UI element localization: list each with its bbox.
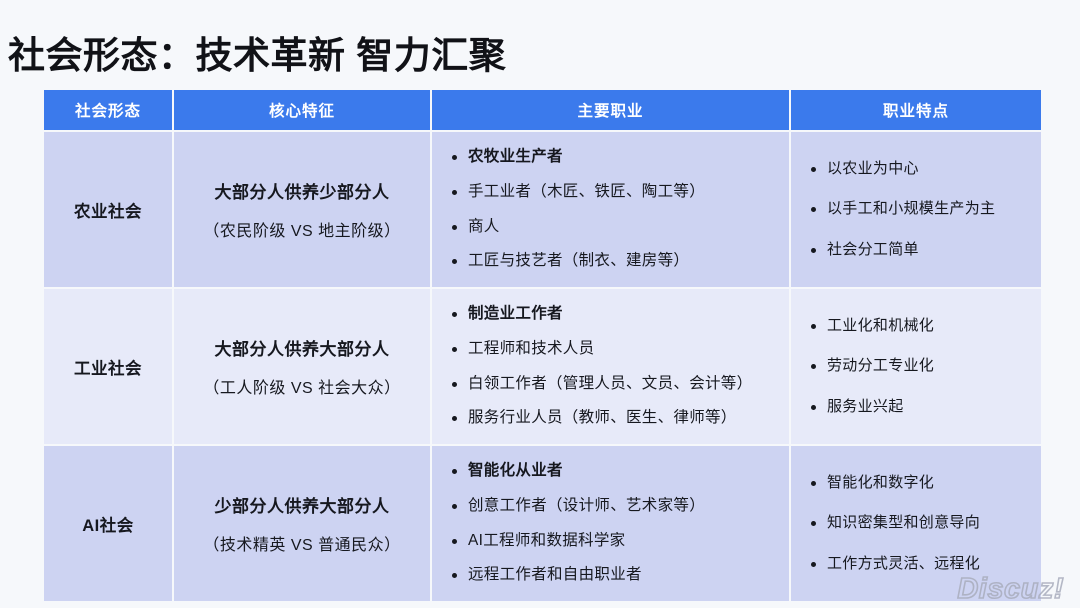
list-item: 劳动分工专业化	[807, 356, 1025, 376]
cell-main-occupations: 制造业工作者 工程师和技术人员 白领工作者（管理人员、文员、会计等） 服务行业人…	[432, 289, 789, 444]
cell-core-trait: 少部分人供养大部分人 （技术精英 VS 普通民众）	[174, 446, 430, 601]
feature-list: 智能化和数字化 知识密集型和创意导向 工作方式灵活、远程化	[807, 473, 1025, 574]
feature-list-block: 智能化和数字化 知识密集型和创意导向 工作方式灵活、远程化	[791, 459, 1041, 588]
table-row: 工业社会 大部分人供养大部分人 （工人阶级 VS 社会大众） 制造业工作者 工程…	[44, 289, 1041, 444]
list-item: 服务业兴起	[807, 397, 1025, 417]
list-item: 智能化从业者	[448, 461, 773, 482]
cell-main-occupations: 智能化从业者 创意工作者（设计师、艺术家等） AI工程师和数据科学家 远程工作者…	[432, 446, 789, 601]
table-row: AI社会 少部分人供养大部分人 （技术精英 VS 普通民众） 智能化从业者 创意…	[44, 446, 1041, 601]
core-trait-main: 少部分人供养大部分人	[190, 492, 414, 517]
list-item: 以农业为中心	[807, 159, 1025, 179]
cell-society-name: 农业社会	[44, 132, 172, 287]
society-name-label: AI社会	[44, 498, 172, 550]
cell-society-name: AI社会	[44, 446, 172, 601]
core-trait-sub: （技术精英 VS 普通民众）	[190, 531, 414, 555]
discuz-watermark: Discuz!	[957, 573, 1064, 606]
core-trait-block: 大部分人供养少部分人 （农民阶级 VS 地主阶级）	[174, 164, 430, 255]
list-item: 知识密集型和创意导向	[807, 513, 1025, 533]
list-item: 智能化和数字化	[807, 473, 1025, 493]
list-item: 远程工作者和自由职业者	[448, 565, 773, 586]
list-item: 社会分工简单	[807, 240, 1025, 260]
cell-core-trait: 大部分人供养大部分人 （工人阶级 VS 社会大众）	[174, 289, 430, 444]
column-header-occupation-features: 职业特点	[791, 90, 1041, 130]
feature-list-block: 以农业为中心 以手工和小规模生产为主 社会分工简单	[791, 145, 1041, 274]
list-item: 商人	[448, 217, 773, 238]
core-trait-main: 大部分人供养少部分人	[190, 178, 414, 203]
feature-list: 工业化和机械化 劳动分工专业化 服务业兴起	[807, 316, 1025, 417]
table-body: 农业社会 大部分人供养少部分人 （农民阶级 VS 地主阶级） 农牧业生产者 手工…	[44, 132, 1041, 601]
list-item: 服务行业人员（教师、医生、律师等）	[448, 408, 773, 429]
occupation-list: 智能化从业者 创意工作者（设计师、艺术家等） AI工程师和数据科学家 远程工作者…	[448, 461, 773, 587]
column-header-society-form: 社会形态	[44, 90, 172, 130]
occupation-list-block: 智能化从业者 创意工作者（设计师、艺术家等） AI工程师和数据科学家 远程工作者…	[432, 447, 789, 601]
list-item: 白领工作者（管理人员、文员、会计等）	[448, 374, 773, 395]
society-name-label: 工业社会	[44, 341, 172, 393]
list-item: 工业化和机械化	[807, 316, 1025, 336]
occupation-list: 农牧业生产者 手工业者（木匠、铁匠、陶工等） 商人 工匠与技艺者（制衣、建房等）	[448, 147, 773, 273]
occupation-list-block: 制造业工作者 工程师和技术人员 白领工作者（管理人员、文员、会计等） 服务行业人…	[432, 290, 789, 444]
society-comparison-table: 社会形态 核心特征 主要职业 职业特点 农业社会 大部分人供养少部分人 （农民阶…	[42, 88, 1043, 603]
core-trait-main: 大部分人供养大部分人	[190, 335, 414, 360]
table-header: 社会形态 核心特征 主要职业 职业特点	[44, 90, 1041, 130]
list-item: 工程师和技术人员	[448, 339, 773, 360]
cell-core-trait: 大部分人供养少部分人 （农民阶级 VS 地主阶级）	[174, 132, 430, 287]
feature-list: 以农业为中心 以手工和小规模生产为主 社会分工简单	[807, 159, 1025, 260]
list-item: 手工业者（木匠、铁匠、陶工等）	[448, 182, 773, 203]
core-trait-sub: （农民阶级 VS 地主阶级）	[190, 217, 414, 241]
cell-main-occupations: 农牧业生产者 手工业者（木匠、铁匠、陶工等） 商人 工匠与技艺者（制衣、建房等）	[432, 132, 789, 287]
column-header-core-traits: 核心特征	[174, 90, 430, 130]
cell-occupation-features: 以农业为中心 以手工和小规模生产为主 社会分工简单	[791, 132, 1041, 287]
list-item: 创意工作者（设计师、艺术家等）	[448, 496, 773, 517]
table-header-row: 社会形态 核心特征 主要职业 职业特点	[44, 90, 1041, 130]
cell-society-name: 工业社会	[44, 289, 172, 444]
table-row: 农业社会 大部分人供养少部分人 （农民阶级 VS 地主阶级） 农牧业生产者 手工…	[44, 132, 1041, 287]
occupation-list-block: 农牧业生产者 手工业者（木匠、铁匠、陶工等） 商人 工匠与技艺者（制衣、建房等）	[432, 133, 789, 287]
occupation-list: 制造业工作者 工程师和技术人员 白领工作者（管理人员、文员、会计等） 服务行业人…	[448, 304, 773, 430]
list-item: 工作方式灵活、远程化	[807, 554, 1025, 574]
list-item: 农牧业生产者	[448, 147, 773, 168]
core-trait-block: 大部分人供养大部分人 （工人阶级 VS 社会大众）	[174, 321, 430, 412]
list-item: 制造业工作者	[448, 304, 773, 325]
list-item: 以手工和小规模生产为主	[807, 199, 1025, 219]
society-name-label: 农业社会	[44, 184, 172, 236]
list-item: AI工程师和数据科学家	[448, 531, 773, 552]
core-trait-block: 少部分人供养大部分人 （技术精英 VS 普通民众）	[174, 478, 430, 569]
list-item: 工匠与技艺者（制衣、建房等）	[448, 251, 773, 272]
page-title: 社会形态：技术革新 智力汇聚	[8, 31, 506, 81]
core-trait-sub: （工人阶级 VS 社会大众）	[190, 374, 414, 398]
column-header-main-occupations: 主要职业	[432, 90, 789, 130]
feature-list-block: 工业化和机械化 劳动分工专业化 服务业兴起	[791, 302, 1041, 431]
cell-occupation-features: 工业化和机械化 劳动分工专业化 服务业兴起	[791, 289, 1041, 444]
